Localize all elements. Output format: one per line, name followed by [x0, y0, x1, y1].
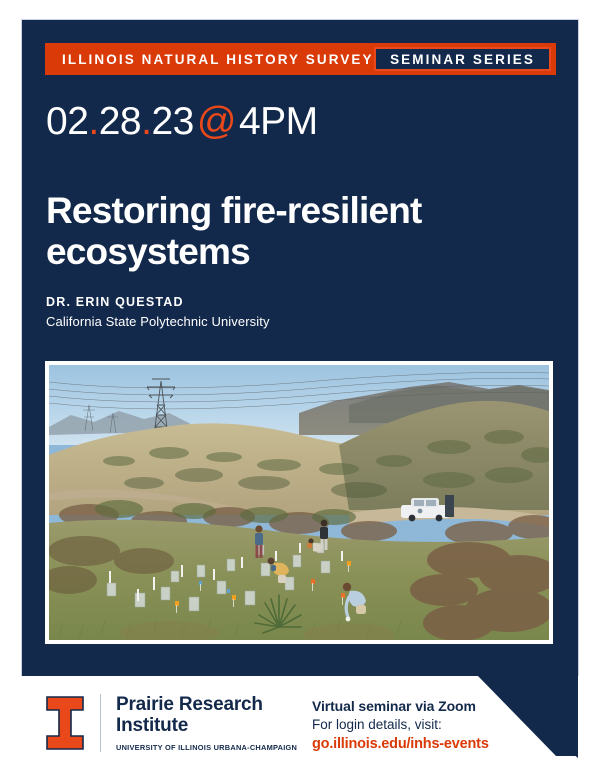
field-research-photo	[49, 365, 549, 640]
prairie-research-institute-logo: Prairie ResearchInstitute UNIVERSITY OF …	[44, 694, 297, 752]
title-line-2: ecosystems	[46, 231, 250, 272]
date-month: 02	[46, 100, 88, 143]
institute-name: Prairie ResearchInstitute	[116, 694, 297, 737]
zoom-info-block: Virtual seminar via Zoom For login detai…	[312, 698, 489, 752]
banner-series-box: SEMINAR SERIES	[374, 47, 551, 71]
event-datetime: 02.28.23@4PM	[46, 100, 318, 144]
speaker-name: DR. ERIN QUESTAD	[46, 295, 184, 309]
zoom-heading: Virtual seminar via Zoom	[312, 698, 489, 714]
event-time: 4PM	[239, 100, 318, 143]
zoom-subtext: For login details, visit:	[312, 717, 489, 732]
university-name: UNIVERSITY OF ILLINOIS URBANA-CHAMPAIGN	[116, 743, 297, 752]
seminar-banner: ILLINOIS NATURAL HISTORY SURVEY SEMINAR …	[45, 43, 556, 75]
event-url-link[interactable]: go.illinois.edu/inhs-events	[312, 736, 489, 752]
banner-series-label: SEMINAR SERIES	[390, 52, 535, 67]
banner-organization-label: ILLINOIS NATURAL HISTORY SURVEY	[45, 52, 374, 67]
page-title: Restoring fire-resilientecosystems	[46, 190, 516, 272]
date-day: 28	[99, 100, 141, 143]
illinois-block-i-icon	[44, 694, 86, 752]
at-symbol: @	[194, 100, 239, 143]
logo-divider	[100, 694, 101, 752]
speaker-affiliation: California State Polytechnic University	[46, 314, 270, 329]
photo-frame	[45, 361, 553, 644]
institute-name-line-1: Prairie Research	[116, 694, 263, 715]
date-separator-2: .	[141, 100, 151, 143]
institute-name-line-2: Institute	[116, 715, 188, 736]
logo-text: Prairie ResearchInstitute UNIVERSITY OF …	[116, 694, 297, 752]
title-line-1: Restoring fire-resilient	[46, 190, 422, 231]
seminar-poster: ILLINOIS NATURAL HISTORY SURVEY SEMINAR …	[0, 0, 600, 777]
date-separator-1: .	[88, 100, 98, 143]
date-year: 23	[151, 100, 193, 143]
